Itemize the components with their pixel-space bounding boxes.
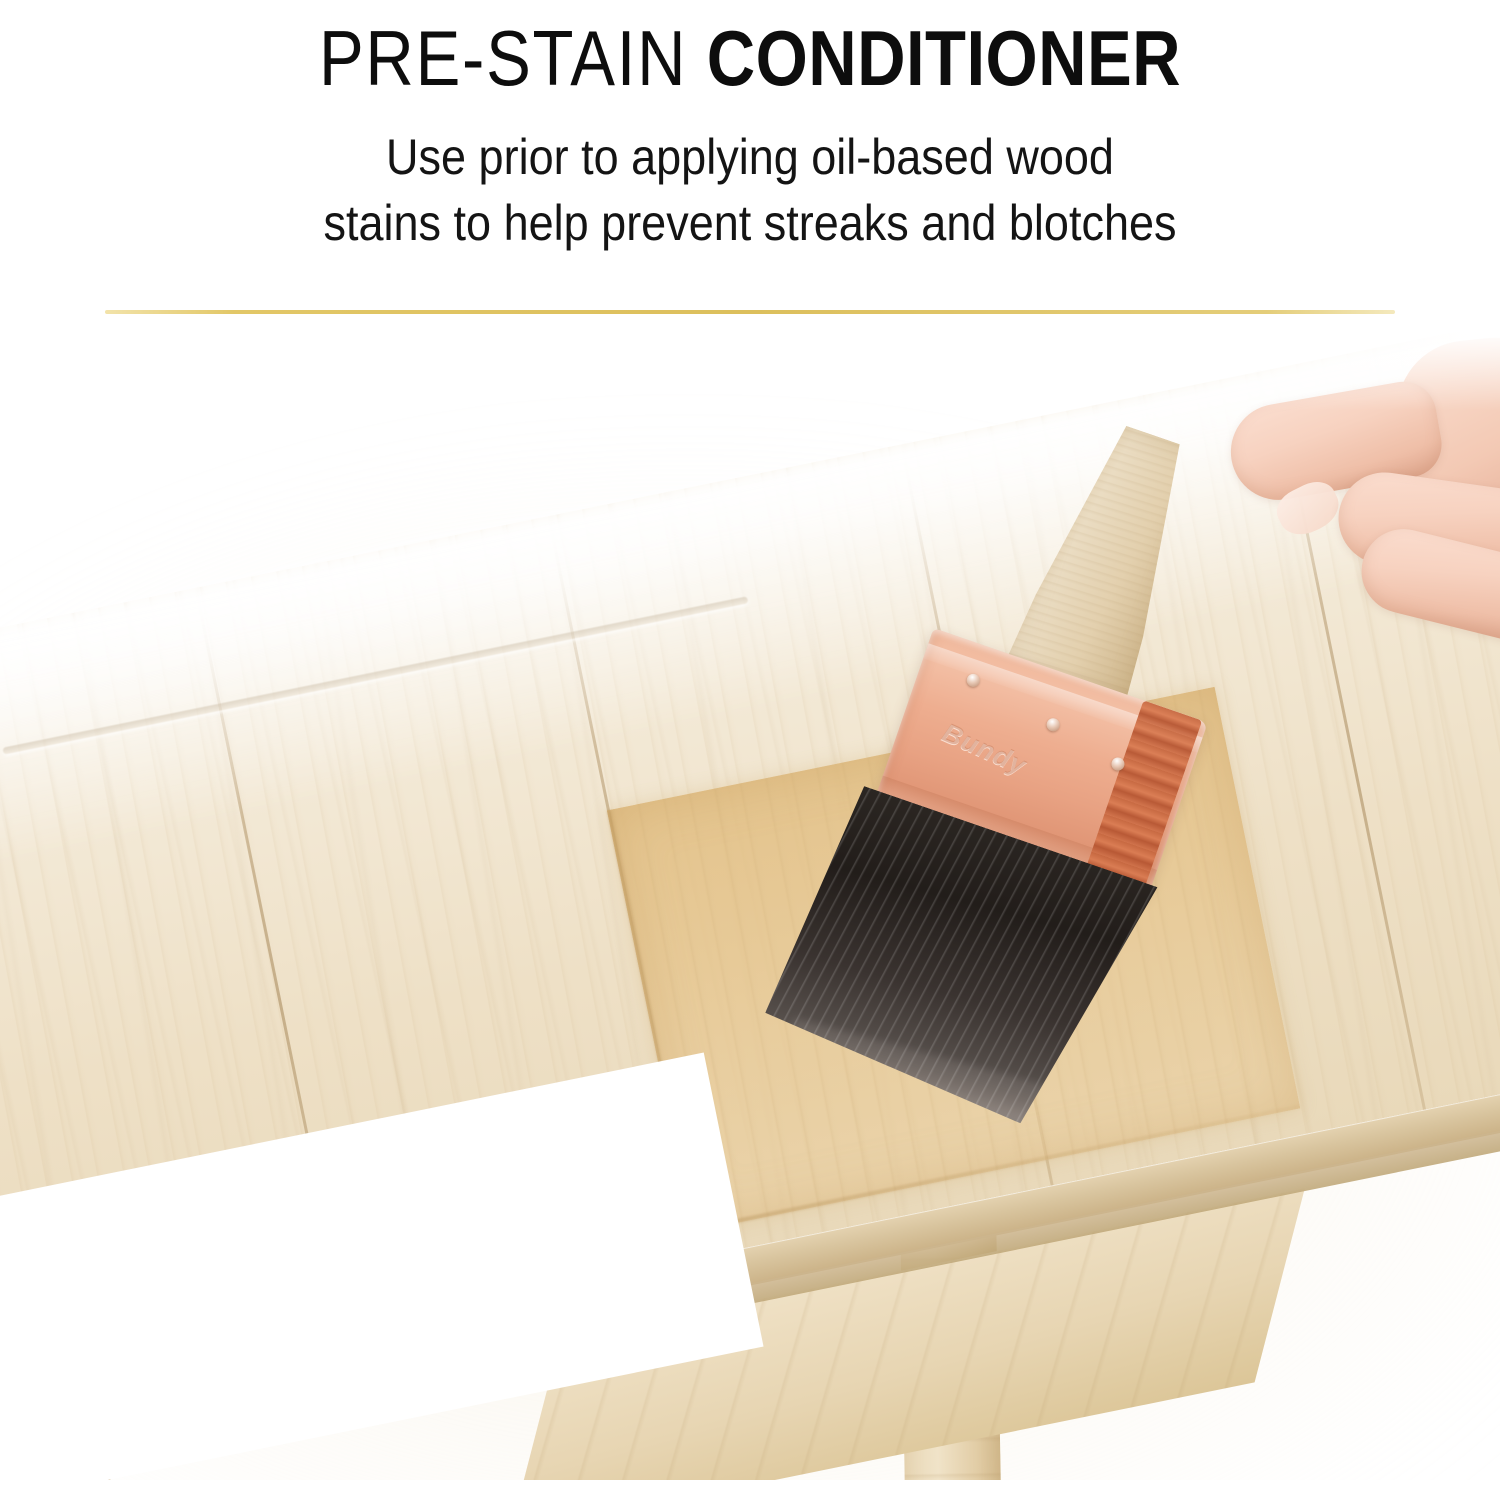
- headline-light-part: PRE-STAIN: [319, 14, 687, 102]
- photo-top-fade: [0, 330, 1500, 410]
- product-photo: Bundy: [0, 330, 1500, 1500]
- product-banner: PRE-STAIN CONDITIONER Use prior to apply…: [0, 0, 1500, 1500]
- thumbnail: [1270, 474, 1346, 543]
- ferrule-rivet: [1045, 717, 1062, 734]
- subtitle-line-1: Use prior to applying oil-based wood: [75, 126, 1425, 188]
- banner-text-block: PRE-STAIN CONDITIONER Use prior to apply…: [0, 0, 1500, 254]
- gold-divider-rule: [105, 310, 1395, 314]
- page-title: PRE-STAIN CONDITIONER: [105, 14, 1395, 102]
- subtitle-line-2: stains to help prevent streaks and blotc…: [75, 192, 1425, 254]
- background-mask-bottom: [0, 1480, 1500, 1500]
- headline-bold-part: CONDITIONER: [707, 14, 1181, 102]
